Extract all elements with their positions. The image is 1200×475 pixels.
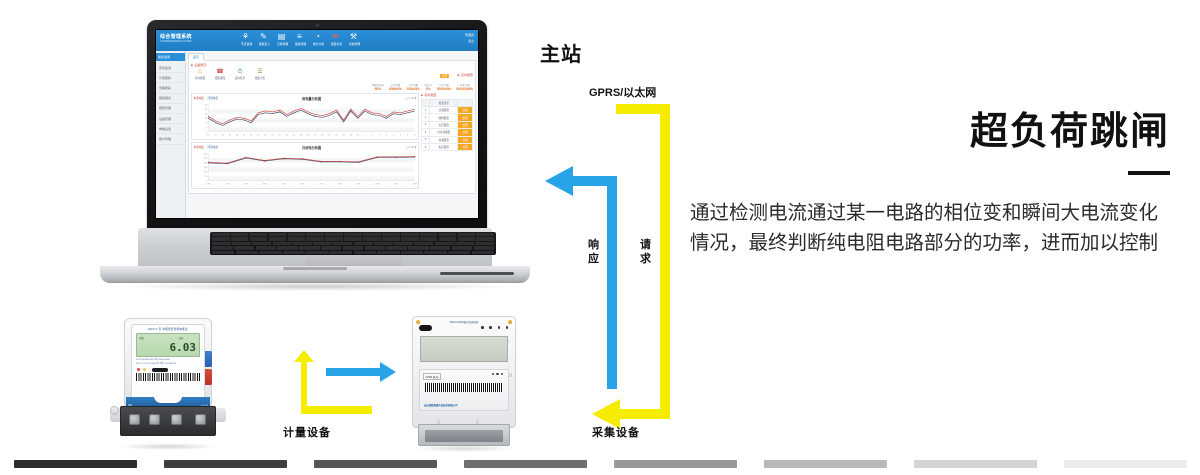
single-phase-meter: DDZY1 型 单相费控智能电能表 电量 当前 6.03 220V 10(60)…	[112, 318, 224, 446]
keyboard-key[interactable]	[299, 246, 320, 249]
svg-text:3月: 3月	[244, 182, 247, 186]
nav-item-6[interactable]: ⚒ 系统管理	[349, 32, 358, 46]
bulb-icon: ⚘	[241, 32, 250, 41]
led-yellow-icon	[143, 368, 146, 371]
keyboard-key[interactable]	[325, 233, 343, 236]
svg-text:15: 15	[204, 118, 207, 120]
calendar-icon: ▤	[277, 32, 286, 41]
keyboard-key[interactable]	[458, 233, 476, 236]
keyboard-key[interactable]	[354, 242, 373, 245]
keyboard-row	[212, 233, 494, 236]
svg-text:8月: 8月	[338, 182, 341, 186]
keyboard-key[interactable]	[414, 242, 433, 245]
keyboard-key[interactable]	[344, 237, 362, 240]
keyboard-key[interactable]	[273, 242, 292, 245]
alarm-state-2[interactable]: 处理	[458, 121, 473, 128]
laptop-lid: 综合管理系统 COMPREHENSIVE SYSTEM ⚘ 节点监测 ✎ 数据录…	[147, 20, 487, 232]
svg-text:2月: 2月	[225, 182, 228, 186]
strip-segment-6	[914, 460, 1037, 468]
app-nav: ⚘ 节点监测 ✎ 数据录入 ▤ 日常管理 ≡ 能	[241, 32, 358, 46]
svg-text:24: 24	[306, 134, 309, 136]
svg-text:0: 0	[206, 180, 208, 182]
svg-text:31: 31	[356, 134, 359, 136]
keyboard-key[interactable]	[365, 246, 386, 249]
screw-top-right-icon	[508, 320, 512, 324]
stat-value-2: 834kWh	[407, 87, 420, 91]
lcd-value: 6.03	[170, 342, 197, 353]
alarm-no-2: 3	[422, 121, 430, 128]
concentrator-model-label: MCM-1200型集中抄表终端	[413, 317, 515, 324]
keyboard-key[interactable]	[424, 251, 446, 254]
svg-text:25: 25	[313, 134, 316, 136]
keyboard-key[interactable]	[306, 251, 328, 254]
sidebar-item-0[interactable]: 实时监测	[156, 63, 185, 73]
svg-text:10: 10	[204, 122, 207, 124]
label-master-station: 主站	[540, 38, 582, 67]
stats-row: 本期总用电 98% 日平均量 906kWh 月平均量	[372, 83, 473, 91]
app-sidebar: 能耗监测 实时监测 分项能耗 支路能耗 能耗报表 报警管理 设备管理 参数设置 …	[156, 51, 186, 219]
keyboard-row	[212, 237, 494, 240]
stat-value-4: 9030kWh	[437, 87, 452, 91]
alarm-state-3[interactable]: 处理	[458, 129, 473, 136]
doc-icon: ☰	[253, 69, 267, 76]
svg-text:4: 4	[385, 134, 387, 136]
svg-text:10月: 10月	[374, 182, 379, 186]
alarm-no-0: 1	[422, 107, 430, 114]
svg-text:6: 6	[399, 134, 401, 136]
sidebar-item-3[interactable]: 能耗报表	[156, 94, 185, 104]
svg-text:21: 21	[285, 134, 288, 136]
legend-previous-0: 同期电量	[208, 97, 218, 100]
keyboard-key[interactable]	[259, 251, 281, 254]
terminal-screw-4	[195, 414, 206, 425]
chart-title-1: 月用电分析图	[302, 145, 321, 150]
table-row[interactable]: 5 化漏报警 处理	[422, 136, 473, 143]
nav-item-5[interactable]: ✉ 报警信息	[331, 32, 340, 46]
optical-drive-slot	[440, 272, 514, 275]
tab-bar: 首页	[188, 53, 476, 60]
nav-label-1: 数据录入	[259, 42, 268, 46]
alarm-type-5: 失压报警	[430, 143, 458, 150]
request-arrow-yellow	[592, 104, 670, 429]
svg-text:10: 10	[207, 134, 210, 136]
keyboard-key[interactable]	[474, 246, 495, 249]
strip-segment-3	[464, 460, 587, 468]
svg-text:13: 13	[228, 134, 231, 136]
page-title: 超负荷跳闸	[690, 110, 1170, 154]
svg-text:18: 18	[264, 134, 267, 136]
alarm-no-4: 5	[422, 136, 430, 143]
svg-text:28: 28	[335, 134, 338, 136]
keyboard-key[interactable]	[408, 246, 429, 249]
alarm-section-title: 实时报警	[458, 73, 473, 77]
keyboard-key[interactable]	[234, 246, 255, 249]
svg-text:11: 11	[214, 134, 217, 136]
keyboard-key[interactable]	[288, 237, 306, 240]
svg-text:17: 17	[257, 134, 260, 136]
keyboard-key[interactable]	[401, 237, 419, 240]
legend-previous-1: 同期电量	[208, 146, 218, 149]
svg-text:2: 2	[371, 134, 373, 136]
svg-text:5: 5	[206, 127, 208, 129]
list-icon: ≡	[295, 32, 304, 41]
alarm-state-1[interactable]: 处理	[458, 114, 473, 121]
alarm-panel: 实时报警 报警类型 1 过载报警	[421, 93, 473, 191]
keyboard-key[interactable]	[401, 251, 423, 254]
stat-4: 年平均量 9030kWh	[437, 83, 452, 91]
svg-text:16: 16	[249, 134, 252, 136]
keyboard-key[interactable]	[439, 237, 457, 240]
app-logo: 综合管理系统 COMPREHENSIVE SYSTEM	[160, 33, 192, 43]
svg-text:30: 30	[204, 104, 207, 106]
strip-segment-0	[14, 460, 137, 468]
gprs-module-label: GPRS 模 块	[423, 373, 441, 380]
table-row[interactable]: 3 欠压报警 处理	[422, 121, 473, 128]
svg-text:30: 30	[349, 134, 352, 136]
label-request: 请求	[640, 238, 652, 266]
user-area[interactable]: 管理员 退出	[465, 33, 474, 43]
keyboard-key[interactable]	[420, 233, 438, 236]
keyboard-key[interactable]	[212, 246, 233, 249]
keyboard-key[interactable]	[250, 233, 268, 236]
sidebar-header: 能耗监测	[156, 53, 185, 61]
keyboard-key[interactable]	[321, 246, 342, 249]
svg-text:3: 3	[378, 134, 380, 136]
alarm-state-0[interactable]: 处理	[458, 107, 473, 114]
keyboard-key[interactable]	[448, 251, 470, 254]
stat-5: 年累计量 85263kWh	[456, 83, 473, 91]
keyboard-key[interactable]	[293, 242, 312, 245]
alarm-col-type: 报警类型	[430, 100, 458, 107]
nav-item-3[interactable]: ≡ 能耗管理	[295, 32, 304, 46]
svg-text:25: 25	[204, 109, 207, 111]
keyboard-key[interactable]	[394, 242, 413, 245]
terminal-screw-2	[149, 414, 160, 425]
svg-text:11月: 11月	[393, 182, 398, 186]
label-gprs-ethernet: GPRS/以太网	[589, 84, 656, 100]
keyboard-key[interactable]	[231, 233, 249, 236]
concentrator-terminal-block	[418, 424, 510, 446]
keyboard-key[interactable]	[363, 237, 381, 240]
warn-icon: ⚠	[193, 69, 207, 76]
svg-text:300: 300	[203, 153, 208, 155]
keyboard-key[interactable]	[231, 237, 249, 240]
keyboard-key[interactable]	[452, 246, 473, 249]
phone-icon: ☎	[213, 69, 227, 76]
strip-segment-1	[164, 460, 287, 468]
meter-arrow-yellow	[294, 350, 372, 414]
chart-card-daily: 本期电量 同期电量 用电量分析图 ▢ ↻ ⚙ ✖	[191, 93, 419, 140]
response-arrow-blue	[545, 166, 617, 389]
keyboard-key[interactable]	[333, 242, 352, 245]
overview-panel: 设备概况 ⚠ 异常报警 ☎ 报警通知	[188, 60, 476, 194]
alarm-no-3: 4	[422, 129, 430, 136]
infrared-port-icon	[152, 368, 168, 372]
keyboard-key[interactable]	[288, 233, 306, 236]
strip-segment-4	[614, 460, 737, 468]
svg-text:5: 5	[392, 134, 394, 136]
keyboard-key[interactable]	[401, 233, 419, 236]
keyboard-key[interactable]	[212, 237, 230, 240]
app-main: 首页 设备概况 ⚠ 异常报警	[186, 51, 478, 219]
manufacturer-name-en: WASION ENERGY TECHNOLOGY CO.,LTD	[424, 407, 457, 408]
quick-action-1[interactable]: ☎ 报警通知	[213, 69, 227, 80]
alarm-no-5: 6	[422, 143, 430, 150]
charts-area: 本期电量 同期电量 用电量分析图 ▢ ↻ ⚙ ✖	[191, 93, 473, 191]
laptop-front-edge	[100, 266, 530, 283]
alarm-state-4[interactable]: 处理	[458, 136, 473, 143]
legend-current-1: 本期电量	[194, 146, 204, 149]
svg-text:20: 20	[278, 134, 281, 136]
keyboard	[210, 232, 496, 255]
logout-link[interactable]: 退出	[465, 39, 474, 43]
legend-current-0: 本期电量	[194, 97, 204, 100]
overview-detail-badge[interactable]: 详情	[440, 74, 449, 78]
tools-icon: ⚒	[349, 32, 358, 41]
svg-text:4月: 4月	[263, 182, 266, 186]
nav-label-4: 统计分析	[313, 42, 322, 46]
chart-toolbar-0[interactable]: ▢ ↻ ⚙ ✖	[405, 97, 416, 100]
keyboard-key[interactable]	[256, 246, 277, 249]
chart-card-monthly: 本期电量 同期电量 月用电分析图 ▢ ↻ ⚙ ✖	[191, 142, 419, 189]
svg-text:12: 12	[221, 134, 224, 136]
keyboard-row	[212, 242, 494, 245]
stat-3: 同比升 5%	[425, 83, 432, 91]
quick-action-0[interactable]: ⚠ 异常报警	[193, 69, 207, 80]
keyboard-key[interactable]	[212, 242, 231, 245]
app-subtitle: COMPREHENSIVE SYSTEM	[160, 40, 192, 43]
keyboard-key[interactable]	[435, 242, 454, 245]
concentrator-housing: MCM-1200型集中抄表终端 电源 运行 通信 告警 GPRS 模 块 K 2…	[412, 316, 516, 428]
keyboard-key[interactable]	[313, 242, 332, 245]
keyboard-key[interactable]	[475, 242, 494, 245]
sidebar-item-5[interactable]: 设备管理	[156, 114, 185, 124]
svg-text:7: 7	[407, 134, 409, 136]
poster-canvas: 综合管理系统 COMPREHENSIVE SYSTEM ⚘ 节点监测 ✎ 数据录…	[0, 0, 1200, 475]
svg-text:100: 100	[203, 171, 208, 173]
led-power-icon	[481, 326, 484, 329]
svg-text:50: 50	[204, 176, 207, 178]
meter-ground-shadow	[119, 443, 218, 450]
keyboard-key[interactable]	[250, 237, 268, 240]
quick-actions: ⚠ 异常报警 ☎ 报警通知 ⏱	[193, 69, 267, 80]
laptop-shadow	[122, 282, 508, 291]
svg-text:22: 22	[292, 134, 295, 136]
svg-text:12月: 12月	[412, 182, 417, 186]
strip-segment-5	[764, 460, 887, 468]
svg-text:15: 15	[242, 134, 245, 136]
nav-label-3: 能耗管理	[295, 42, 304, 46]
keyboard-key[interactable]	[277, 246, 298, 249]
chart-plot-0: 1011121314151617181920212223242526272829…	[194, 102, 417, 138]
meter-terminal-block	[120, 406, 216, 436]
chart-legend-0: 本期电量 同期电量	[194, 96, 218, 100]
strip-segment-2	[314, 460, 437, 468]
lcd-label-left: 电量	[139, 336, 144, 340]
chart-column: 本期电量 同期电量 用电量分析图 ▢ ↻ ⚙ ✖	[191, 93, 419, 191]
alarm-no-1: 2	[422, 114, 430, 121]
meter-housing: DDZY1 型 单相费控智能电能表 电量 当前 6.03 220V 10(60)…	[124, 318, 212, 410]
keyboard-key[interactable]	[236, 251, 258, 254]
keyboard-key[interactable]	[232, 242, 251, 245]
keyboard-key[interactable]	[306, 233, 324, 236]
meter-model-label: DDZY1 型 单相费控智能电能表	[132, 327, 204, 331]
keyboard-key[interactable]	[325, 237, 343, 240]
meter-barcode	[136, 373, 200, 381]
app-body: 能耗监测 实时监测 分项能耗 支路能耗 能耗报表 报警管理 设备管理 参数设置 …	[156, 51, 478, 219]
title-underline	[1128, 171, 1170, 175]
svg-text:0: 0	[206, 131, 208, 133]
alarm-table: 报警类型 1 过载报警 处理	[421, 99, 473, 151]
tab-home[interactable]: 首页	[188, 53, 204, 61]
nav-item-1[interactable]: ✎ 数据录入	[259, 32, 268, 46]
description-text: 通过检测电流通过某一电路的相位变和瞬间大电流变化情况，最终判断纯电阻电路部分的功…	[690, 198, 1170, 258]
meter-indicator-leds	[137, 368, 199, 372]
svg-text:14: 14	[235, 134, 238, 136]
chart-legend-1: 本期电量 同期电量	[194, 145, 218, 149]
chart-plot-1: 1月2月3月4月5月6月7月8月9月10月11月12月 050100150200…	[194, 151, 417, 187]
keyboard-key[interactable]	[430, 246, 451, 249]
keyboard-key[interactable]	[283, 251, 305, 254]
keyboard-key[interactable]	[306, 237, 324, 240]
svg-text:5月: 5月	[281, 182, 284, 186]
keyboard-key[interactable]	[343, 246, 364, 249]
led-run-icon	[489, 326, 492, 329]
nav-item-2[interactable]: ▤ 日常管理	[277, 32, 286, 46]
keyboard-key[interactable]	[212, 251, 234, 254]
app-header: 综合管理系统 COMPREHENSIVE SYSTEM ⚘ 节点监测 ✎ 数据录…	[156, 30, 478, 51]
keyboard-key[interactable]	[420, 237, 438, 240]
meter-spec-line-1: 220V 10(60)A 50Hz 1级 3200imp/kWh	[136, 359, 200, 362]
keyboard-key[interactable]	[269, 233, 287, 236]
laptop-deck	[138, 228, 492, 268]
keyboard-key[interactable]	[354, 251, 376, 254]
keyboard-key[interactable]	[439, 233, 457, 236]
laptop-illustration: 综合管理系统 COMPREHENSIVE SYSTEM ⚘ 节点监测 ✎ 数据录…	[100, 20, 530, 305]
svg-text:19: 19	[271, 134, 274, 136]
alarm-type-0: 过载报警	[430, 107, 458, 114]
laptop-screen: 综合管理系统 COMPREHENSIVE SYSTEM ⚘ 节点监测 ✎ 数据录…	[155, 29, 479, 219]
alarm-panel-title: 实时报警	[421, 93, 473, 97]
concentrator-ground-shadow	[415, 445, 514, 452]
mail-icon: ✉	[331, 32, 340, 41]
sidebar-item-6[interactable]: 参数设置	[156, 124, 185, 134]
chart-toolbar-1[interactable]: ▢ ↻ ⚙ ✖	[405, 146, 416, 149]
keyboard-key[interactable]	[330, 251, 352, 254]
svg-text:6月: 6月	[300, 182, 303, 186]
manufacturer-logo: 长沙威胜能源产业技术有限公司 WASION ENERGY TECHNOLOGY …	[424, 403, 457, 408]
keyboard-key[interactable]	[472, 251, 494, 254]
quick-action-2[interactable]: ⏱ 定时任务	[233, 69, 247, 80]
alarm-type-1: 断相报警	[430, 114, 458, 121]
sidebar-item-1[interactable]: 分项能耗	[156, 73, 185, 83]
overview-title: 设备概况	[191, 63, 267, 67]
svg-text:8: 8	[414, 134, 416, 136]
keyboard-key[interactable]	[363, 233, 381, 236]
alarm-state-5[interactable]: 处理	[458, 143, 473, 150]
stat-value-0: 98%	[372, 87, 384, 91]
keyboard-key[interactable]	[386, 246, 407, 249]
table-row[interactable]: 4 过负荷报警 处理	[422, 129, 473, 136]
label-collection-device: 采集设备	[592, 424, 640, 440]
meter-spec-line-2: GB/T 17215.321-2008 出厂编号 2019080145	[136, 363, 200, 366]
nav-item-0[interactable]: ⚘ 节点监测	[241, 32, 250, 46]
keyboard-key[interactable]	[377, 251, 399, 254]
meter-arrow-blue	[326, 362, 396, 382]
svg-text:27: 27	[328, 134, 331, 136]
svg-text:20: 20	[204, 113, 207, 115]
label-metering-device: 计量设备	[283, 424, 331, 440]
stat-2: 月平均量 834kWh	[407, 83, 420, 91]
alarm-type-3: 过负荷报警	[430, 129, 458, 136]
alarm-type-2: 欠压报警	[430, 121, 458, 128]
screw-top-left-icon	[416, 320, 420, 324]
meter-seal-icon	[110, 406, 119, 415]
concentrator-infrared-icon	[419, 325, 432, 331]
chart-title-0: 用电量分析图	[302, 96, 321, 101]
keyboard-key[interactable]	[212, 233, 230, 236]
quick-action-3[interactable]: ☰ 报表导出	[253, 69, 267, 80]
keyboard-key[interactable]	[344, 233, 362, 236]
led-alarm-icon	[506, 326, 509, 329]
sidebar-item-4[interactable]: 报警管理	[156, 104, 185, 114]
svg-text:26: 26	[321, 134, 324, 136]
quick-label-3: 报表导出	[253, 76, 267, 80]
svg-text:9月: 9月	[356, 182, 359, 186]
table-row[interactable]: 1 过载报警 处理	[422, 107, 473, 114]
stat-0: 本期总用电 98%	[372, 83, 384, 91]
table-row[interactable]: 2 断相报警 处理	[422, 114, 473, 121]
gprs-concentrator: MCM-1200型集中抄表终端 电源 运行 通信 告警 GPRS 模 块 K 2…	[408, 316, 520, 448]
terminal-screw-3	[171, 414, 182, 425]
nav-label-5: 报警信息	[331, 42, 340, 46]
module-status-dots	[491, 373, 504, 376]
strip-segment-7	[1064, 460, 1187, 468]
sidebar-item-7[interactable]: 用户管理	[156, 134, 185, 144]
sidebar-item-2[interactable]: 支路能耗	[156, 83, 185, 93]
concentrator-lcd	[420, 336, 508, 362]
keyboard-row	[212, 251, 494, 254]
meter-lcd: 电量 当前 6.03	[136, 333, 200, 357]
nav-item-4[interactable]: ◔ 统计分析	[313, 32, 322, 46]
svg-text:23: 23	[299, 134, 302, 136]
keyboard-key[interactable]	[374, 242, 393, 245]
nav-label-6: 系统管理	[349, 42, 358, 46]
clock-icon: ⏱	[233, 69, 247, 76]
label-response: 响应	[588, 238, 600, 266]
keyboard-key[interactable]	[458, 237, 476, 240]
led-comm-icon	[498, 326, 501, 329]
keyboard-key[interactable]	[382, 237, 400, 240]
svg-text:7月: 7月	[319, 182, 322, 186]
keyboard-key[interactable]	[476, 237, 494, 240]
terminal-screw-1	[129, 414, 140, 425]
keyboard-key[interactable]	[455, 242, 474, 245]
quick-label-0: 异常报警	[193, 76, 207, 80]
led-red-icon	[137, 368, 140, 371]
keyboard-key[interactable]	[269, 237, 287, 240]
svg-text:1月: 1月	[206, 182, 209, 186]
keyboard-key[interactable]	[382, 233, 400, 236]
pie-chart-icon: ◔	[313, 32, 322, 41]
keyboard-key[interactable]	[252, 242, 271, 245]
alarm-type-4: 化漏报警	[430, 136, 458, 143]
stat-1: 日平均量 906kWh	[389, 83, 402, 91]
text-block: 超负荷跳闸 通过检测电流通过某一电路的相位变和瞬间大电流变化情况，最终判断纯电阻…	[690, 110, 1170, 258]
keyboard-key[interactable]	[476, 233, 494, 236]
keyboard-row	[212, 246, 494, 249]
table-row[interactable]: 6 失压报警 处理	[422, 143, 473, 150]
